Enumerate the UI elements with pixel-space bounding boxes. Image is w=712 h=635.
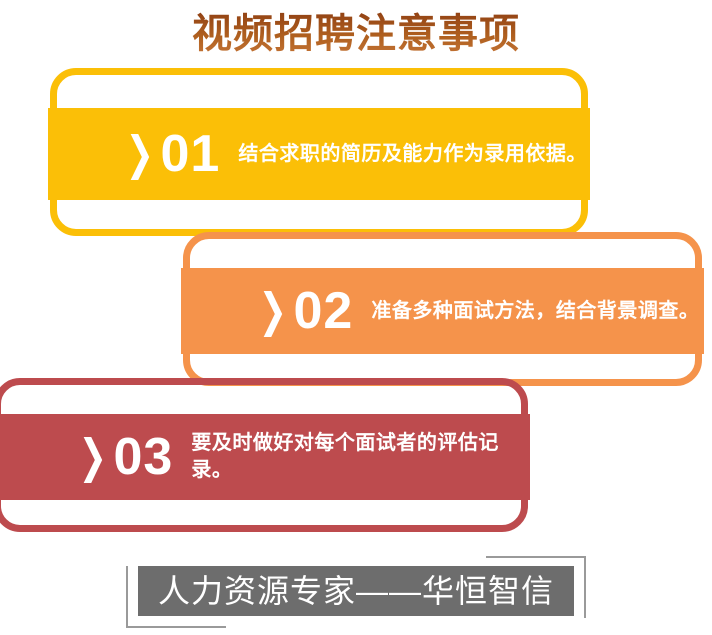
- step-description-03: 要及时做好对每个面试者的评估记录。: [191, 430, 528, 484]
- step-card-01-content: ❯ 01 结合求职的简历及能力作为录用依据。: [50, 108, 588, 200]
- step-description-01: 结合求职的简历及能力作为录用依据。: [238, 141, 587, 168]
- step-card-03-content: ❯ 03 要及时做好对每个面试者的评估记录。: [0, 414, 528, 500]
- step-number-02: 02: [294, 285, 354, 337]
- step-card-01[interactable]: ❯ 01 结合求职的简历及能力作为录用依据。: [50, 68, 588, 236]
- chevron-right-icon: ❯: [79, 434, 107, 480]
- step-card-02[interactable]: ❯ 02 准备多种面试方法，结合背景调查。: [183, 232, 702, 386]
- footer-bar: 人力资源专家——华恒智信: [138, 566, 574, 616]
- page-title: 视频招聘注意事项: [0, 8, 712, 60]
- step-card-03[interactable]: ❯ 03 要及时做好对每个面试者的评估记录。: [0, 378, 528, 532]
- step-card-02-content: ❯ 02 准备多种面试方法，结合背景调查。: [183, 268, 702, 354]
- chevron-right-icon: ❯: [259, 288, 287, 334]
- step-description-02: 准备多种面试方法，结合背景调查。: [371, 298, 699, 325]
- step-number-03: 03: [114, 431, 174, 483]
- infographic-canvas: 视频招聘注意事项 ❯ 01 结合求职的简历及能力作为录用依据。 ❯ 02 准备多…: [0, 0, 712, 635]
- step-number-01: 01: [161, 128, 221, 180]
- footer-text: 人力资源专家——华恒智信: [158, 575, 554, 607]
- footer-banner: 人力资源专家——华恒智信: [126, 556, 586, 630]
- chevron-right-icon: ❯: [126, 131, 154, 177]
